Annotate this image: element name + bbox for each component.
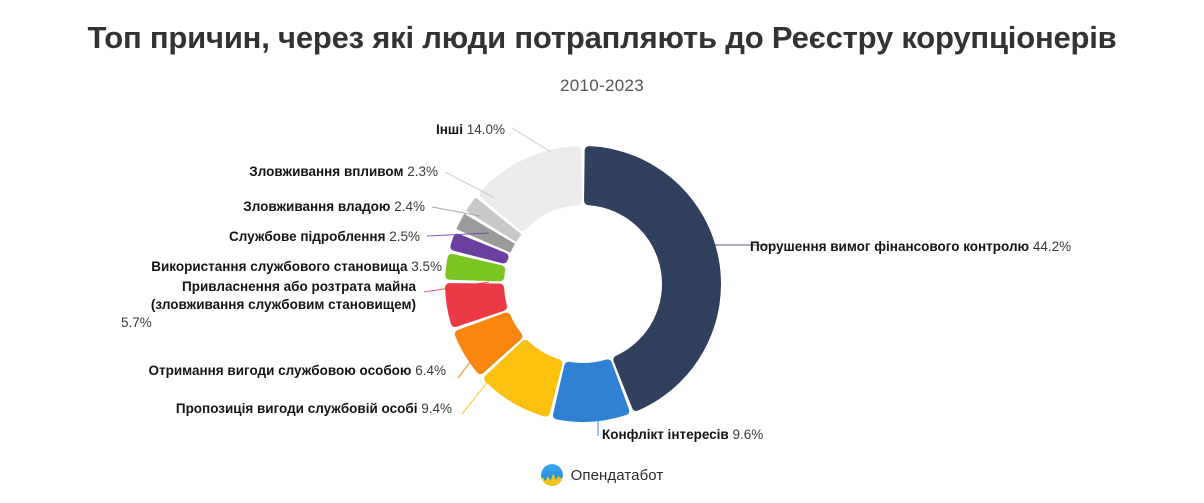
slice-label-name: Конфлікт інтересів: [602, 427, 729, 442]
slice-label-percent: 2.5%: [389, 229, 420, 244]
slice-label-konflikt-interesiv: Конфлікт інтересів 9.6%: [602, 426, 763, 444]
opendatabot-logo-icon: [541, 464, 563, 486]
slice-label-name: Використання службового становища: [151, 259, 407, 274]
slice-label-name2: (зловживання службовим становищем): [151, 297, 416, 312]
slice-label-percent: 2.3%: [407, 164, 438, 179]
slice-label-percent: 9.4%: [421, 401, 452, 416]
slice-label-percent: 14.0%: [467, 122, 505, 137]
slice-label-vykorystannia-stanovyshcha: Використання службового становища 3.5%: [0, 258, 442, 276]
slice-label-name: Порушення вимог фінансового контролю: [750, 239, 1029, 254]
slice-label-zlovzhyvannia-vladoiu: Зловживання владою 2.4%: [0, 198, 425, 216]
chart-page: Топ причин, через які люди потрапляють д…: [0, 0, 1204, 503]
leader-line: [462, 370, 497, 414]
brand-footer: Опендатабот: [0, 464, 1204, 486]
slice-label-percent: 9.6%: [733, 427, 764, 442]
slice-label-percent: 2.4%: [394, 199, 425, 214]
slice-label-line1: Привласнення або розтрата майна: [0, 278, 416, 296]
slice-label-name: Службове підроблення: [229, 229, 385, 244]
slice-label-percent: 44.2%: [1033, 239, 1071, 254]
slice-label-name: Отримання вигоди службовою особою: [148, 363, 411, 378]
slice-label-name: Зловживання владою: [243, 199, 390, 214]
slice-label-name: Зловживання впливом: [249, 164, 403, 179]
slice-label-name: Інші: [436, 122, 463, 137]
slice-label-name: Пропозиція вигоди службовій особі: [176, 401, 418, 416]
slice-label-otrymannia-vyhody: Отримання вигоди службовою особою 6.4%: [0, 362, 446, 380]
slice-label-pryvlasnennia-rozrata: Привласнення або розтрата майна (зловжив…: [0, 278, 416, 331]
slice-label-sluzhbove-pidroblennia: Службове підроблення 2.5%: [0, 228, 420, 246]
slice-label-name: Привласнення або розтрата майна: [182, 279, 416, 294]
slice-label-porushennia-finkontroliu: Порушення вимог фінансового контролю 44.…: [750, 238, 1071, 256]
brand-name: Опендатабот: [571, 467, 664, 484]
slice-label-line2: (зловживання службовим становищем): [0, 296, 416, 314]
slice-label-percent: 6.4%: [415, 363, 446, 378]
leader-line: [512, 128, 551, 152]
slice-label-percent: 3.5%: [411, 259, 442, 274]
slice-label-line3: 5.7%: [0, 314, 416, 332]
donut-slices: [445, 146, 721, 422]
slice-label-zlovzhyvannia-vplyvom: Зловживання впливом 2.3%: [0, 163, 438, 181]
slice-label-percent: 5.7%: [121, 315, 152, 330]
slice-label-propozytsiia-vyhody: Пропозиція вигоди службовій особі 9.4%: [0, 400, 452, 418]
slice-label-inshi: Інші 14.0%: [0, 121, 505, 139]
